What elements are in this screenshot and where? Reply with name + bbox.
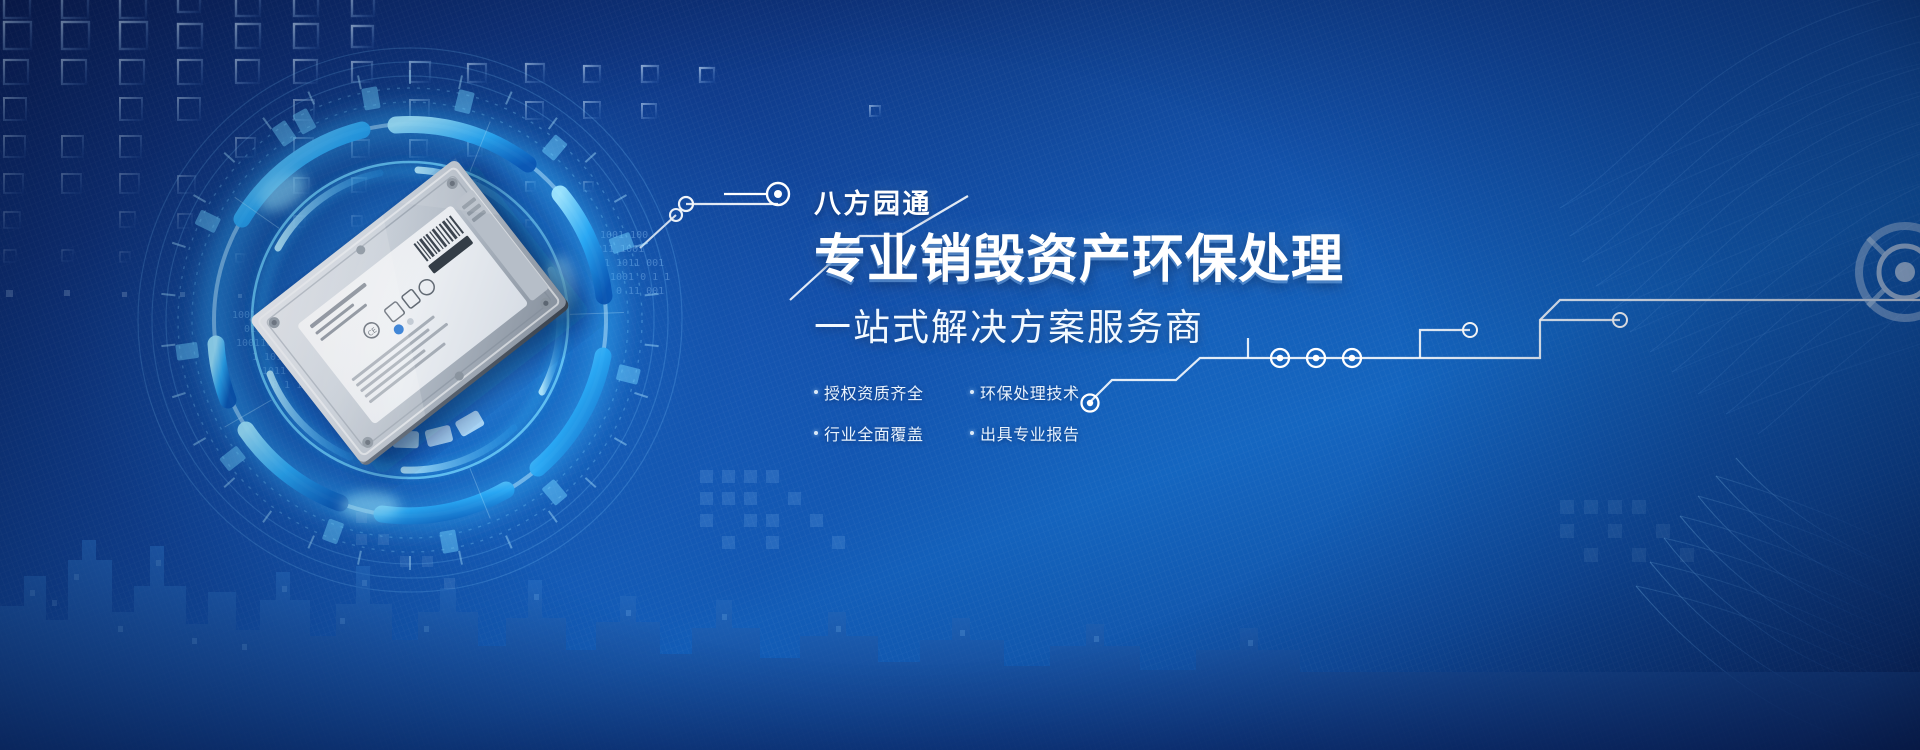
svg-text:011 1001: 011 1001 <box>596 244 644 255</box>
svg-text:011 1001 0: 011 1001 0 <box>244 324 304 335</box>
binary-code-stream: 1001 1001 011 1001 0 1001100 1 1011 001 … <box>232 230 670 391</box>
hard-disk-drive: CE <box>249 151 591 480</box>
bullet-dot-icon <box>970 390 974 394</box>
svg-text:1001100: 1001100 <box>236 338 278 349</box>
city-skyline-silhouette <box>0 540 1920 750</box>
svg-text:1001 1001: 1001 1001 <box>232 310 286 321</box>
wireframe-mesh-topright <box>1560 0 1920 434</box>
page-subtitle: 一站式解决方案服务商 <box>814 297 1434 351</box>
brand-name: 八方园通 <box>814 182 1434 221</box>
svg-text:1 1011 001: 1 1011 001 <box>604 258 664 269</box>
feature-label: 出具专业报告 <box>980 421 1080 445</box>
feature-label: 授权资质齐全 <box>824 380 924 404</box>
glowing-tech-rings <box>138 48 682 592</box>
list-item: 环保处理技术 <box>970 380 1102 404</box>
svg-text:1 1011 001: 1 1011 001 <box>252 352 312 363</box>
svg-text:1001 0 1 1: 1001 0 1 1 <box>610 272 670 283</box>
feature-label: 行业全面覆盖 <box>824 421 924 445</box>
vertical-pixel-columns <box>356 512 455 589</box>
hero-copy: 八方园通 专业销毁资产环保处理 一站式解决方案服务商 授权资质齐全 环保处理技术… <box>814 182 1434 445</box>
center-glow <box>130 28 750 608</box>
svg-text:1011 001 0: 1011 001 0 <box>262 366 322 377</box>
gear-fragment-icon <box>1859 226 1920 318</box>
wireframe-mesh-bottomright <box>1636 458 1920 750</box>
hero-banner: 1001 1001 011 1001 0 1001100 1 1011 001 … <box>0 0 1920 750</box>
page-title: 专业销毁资产环保处理 <box>814 232 1434 288</box>
feature-list: 授权资质齐全 环保处理技术 行业全面覆盖 出具专业报告 <box>814 380 1434 445</box>
svg-text:CE: CE <box>366 326 378 338</box>
pixel-grid-bottom <box>700 470 1694 562</box>
list-item: 授权资质齐全 <box>814 380 946 404</box>
svg-text:0 1 10 1 1: 0 1 10 1 1 <box>272 380 332 391</box>
list-item: 出具专业报告 <box>970 421 1102 445</box>
svg-text:1001 100: 1001 100 <box>600 230 648 241</box>
bullet-dot-icon <box>970 431 974 435</box>
list-item: 行业全面覆盖 <box>814 421 946 445</box>
bullet-dot-icon <box>814 431 818 435</box>
bullet-dot-icon <box>814 390 818 394</box>
svg-text:0 11 001: 0 11 001 <box>616 286 664 297</box>
square-mosaic-pattern <box>4 0 880 299</box>
feature-label: 环保处理技术 <box>980 380 1080 404</box>
